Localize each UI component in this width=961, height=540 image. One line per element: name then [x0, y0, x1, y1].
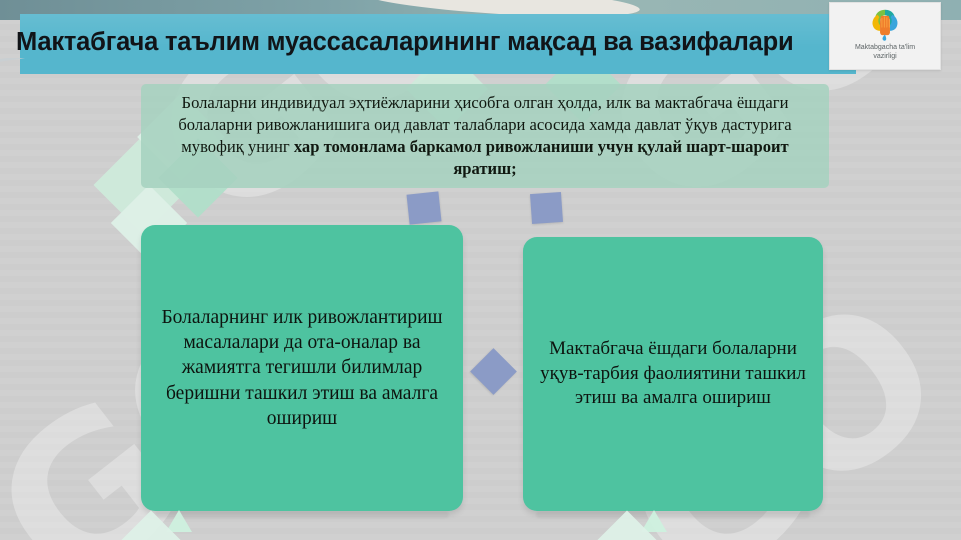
- task-card-right: Мактабгача ёшдаги болаларни уқув-тарбия …: [523, 237, 823, 511]
- task-card-left: Болаларнинг илк ривожлантириш масалалари…: [141, 225, 463, 511]
- objective-statement-box: Болаларни индивидуал эҳтиёжларини ҳисобг…: [141, 84, 829, 188]
- card-shadow: [536, 511, 810, 518]
- ministry-logo-icon: [865, 6, 905, 42]
- logo-caption-line2: vazirligi: [855, 53, 915, 62]
- slide-canvas: GO GO GO GO Мактабгача таълим муассасала…: [0, 0, 961, 540]
- objective-statement-text: Болаларни индивидуал эҳтиёжларини ҳисобг…: [155, 92, 815, 180]
- page-title: Мактабгача таълим муассасаларининг мақса…: [16, 28, 816, 57]
- objective-text-bold: хар томонлама баркамол ривожланиши учун …: [294, 137, 789, 178]
- card-shadow: [155, 511, 449, 518]
- logo-caption: Maktabgacha ta'lim vazirligi: [855, 44, 915, 62]
- decorative-triangle: [641, 510, 667, 532]
- decorative-square: [530, 192, 563, 224]
- task-card-left-text: Болаларнинг илк ривожлантириш масалалари…: [157, 305, 447, 432]
- logo-caption-line1: Maktabgacha ta'lim: [855, 44, 915, 53]
- ministry-logo-card: Maktabgacha ta'lim vazirligi: [829, 2, 941, 70]
- task-card-right-text: Мактабгача ёшдаги болаларни уқув-тарбия …: [537, 337, 809, 411]
- decorative-triangle: [166, 510, 192, 532]
- decorative-square: [407, 191, 442, 224]
